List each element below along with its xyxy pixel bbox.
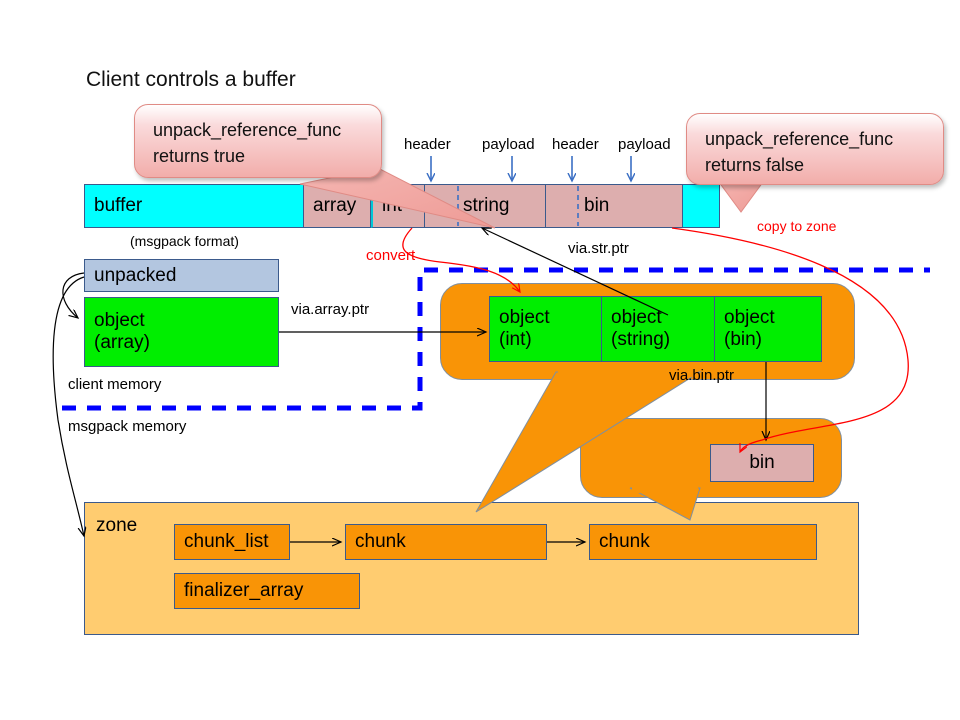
buffer-segment-array: array xyxy=(304,184,371,228)
annotation-header-1: header xyxy=(404,136,451,153)
object-int-box: object (int) xyxy=(489,296,602,362)
chunk-box-2: chunk xyxy=(589,524,817,560)
chunk-list-box: chunk_list xyxy=(174,524,290,560)
annotation-payload-1: payload xyxy=(482,136,535,153)
true-callout-line2: returns true xyxy=(153,143,365,169)
chunk-box-1-label: chunk xyxy=(355,531,406,553)
chunk-list-label: chunk_list xyxy=(184,531,269,553)
object-int-line2: (int) xyxy=(499,329,601,351)
via-bin-ptr-label: via.bin.ptr xyxy=(669,367,734,384)
annotation-header-2: header xyxy=(552,136,599,153)
annotation-payload-2: payload xyxy=(618,136,671,153)
object-bin-line1: object xyxy=(724,307,821,329)
client-memory-label: client memory xyxy=(68,376,161,393)
convert-label: convert xyxy=(366,247,415,264)
object-array-line2: (array) xyxy=(94,332,278,354)
object-bin-box: object (bin) xyxy=(715,296,822,362)
false-callout-line2: returns false xyxy=(705,152,927,178)
via-str-ptr-label: via.str.ptr xyxy=(568,240,629,257)
object-int-line1: object xyxy=(499,307,601,329)
via-array-ptr-label: via.array.ptr xyxy=(291,301,369,318)
chunk-box-1: chunk xyxy=(345,524,547,560)
zone-box xyxy=(84,502,859,635)
copy-to-zone-label: copy to zone xyxy=(757,218,836,234)
unpacked-box-label: unpacked xyxy=(94,265,176,287)
unpack-reference-true-callout: unpack_reference_func returns true xyxy=(134,104,382,178)
buffer-segment-string: string xyxy=(425,184,546,228)
bin-box: bin xyxy=(710,444,814,482)
buffer-segment-array-label: array xyxy=(304,195,356,217)
object-string-box: object (string) xyxy=(602,296,715,362)
false-callout-line1: unpack_reference_func xyxy=(705,126,927,152)
chunk-box-2-label: chunk xyxy=(599,531,650,553)
object-array-box: object (array) xyxy=(84,297,279,367)
diagram-canvas: Client controls a buffer buffer array in… xyxy=(0,0,960,720)
buffer-segment-bin: bin xyxy=(546,184,683,228)
object-string-line2: (string) xyxy=(611,329,714,351)
bin-box-label: bin xyxy=(749,452,774,474)
finalizer-array-label: finalizer_array xyxy=(184,580,303,602)
buffer-segment-buffer-label: buffer xyxy=(85,195,142,217)
zone-label: zone xyxy=(96,515,137,537)
buffer-segment-bin-label: bin xyxy=(546,195,609,217)
arrow-unpacked-to-zone xyxy=(53,277,84,536)
buffer-segment-buffer: buffer xyxy=(84,184,304,228)
object-string-line1: object xyxy=(611,307,714,329)
finalizer-array-box: finalizer_array xyxy=(174,573,360,609)
unpacked-box: unpacked xyxy=(84,259,279,292)
page-title: Client controls a buffer xyxy=(86,68,296,92)
true-callout-line1: unpack_reference_func xyxy=(153,117,365,143)
buffer-caption: (msgpack format) xyxy=(130,233,239,249)
object-bin-line2: (bin) xyxy=(724,329,821,351)
arrow-unpacked-to-object-array xyxy=(63,273,84,318)
buffer-bar: buffer array int string bin xyxy=(84,184,720,228)
buffer-segment-int: int xyxy=(371,184,425,228)
msgpack-memory-label: msgpack memory xyxy=(68,418,186,435)
unpack-reference-false-callout: unpack_reference_func returns false xyxy=(686,113,944,185)
object-array-line1: object xyxy=(94,310,278,332)
buffer-segment-int-label: int xyxy=(373,195,402,217)
buffer-segment-tail xyxy=(683,184,720,228)
buffer-segment-string-label: string xyxy=(425,195,509,217)
